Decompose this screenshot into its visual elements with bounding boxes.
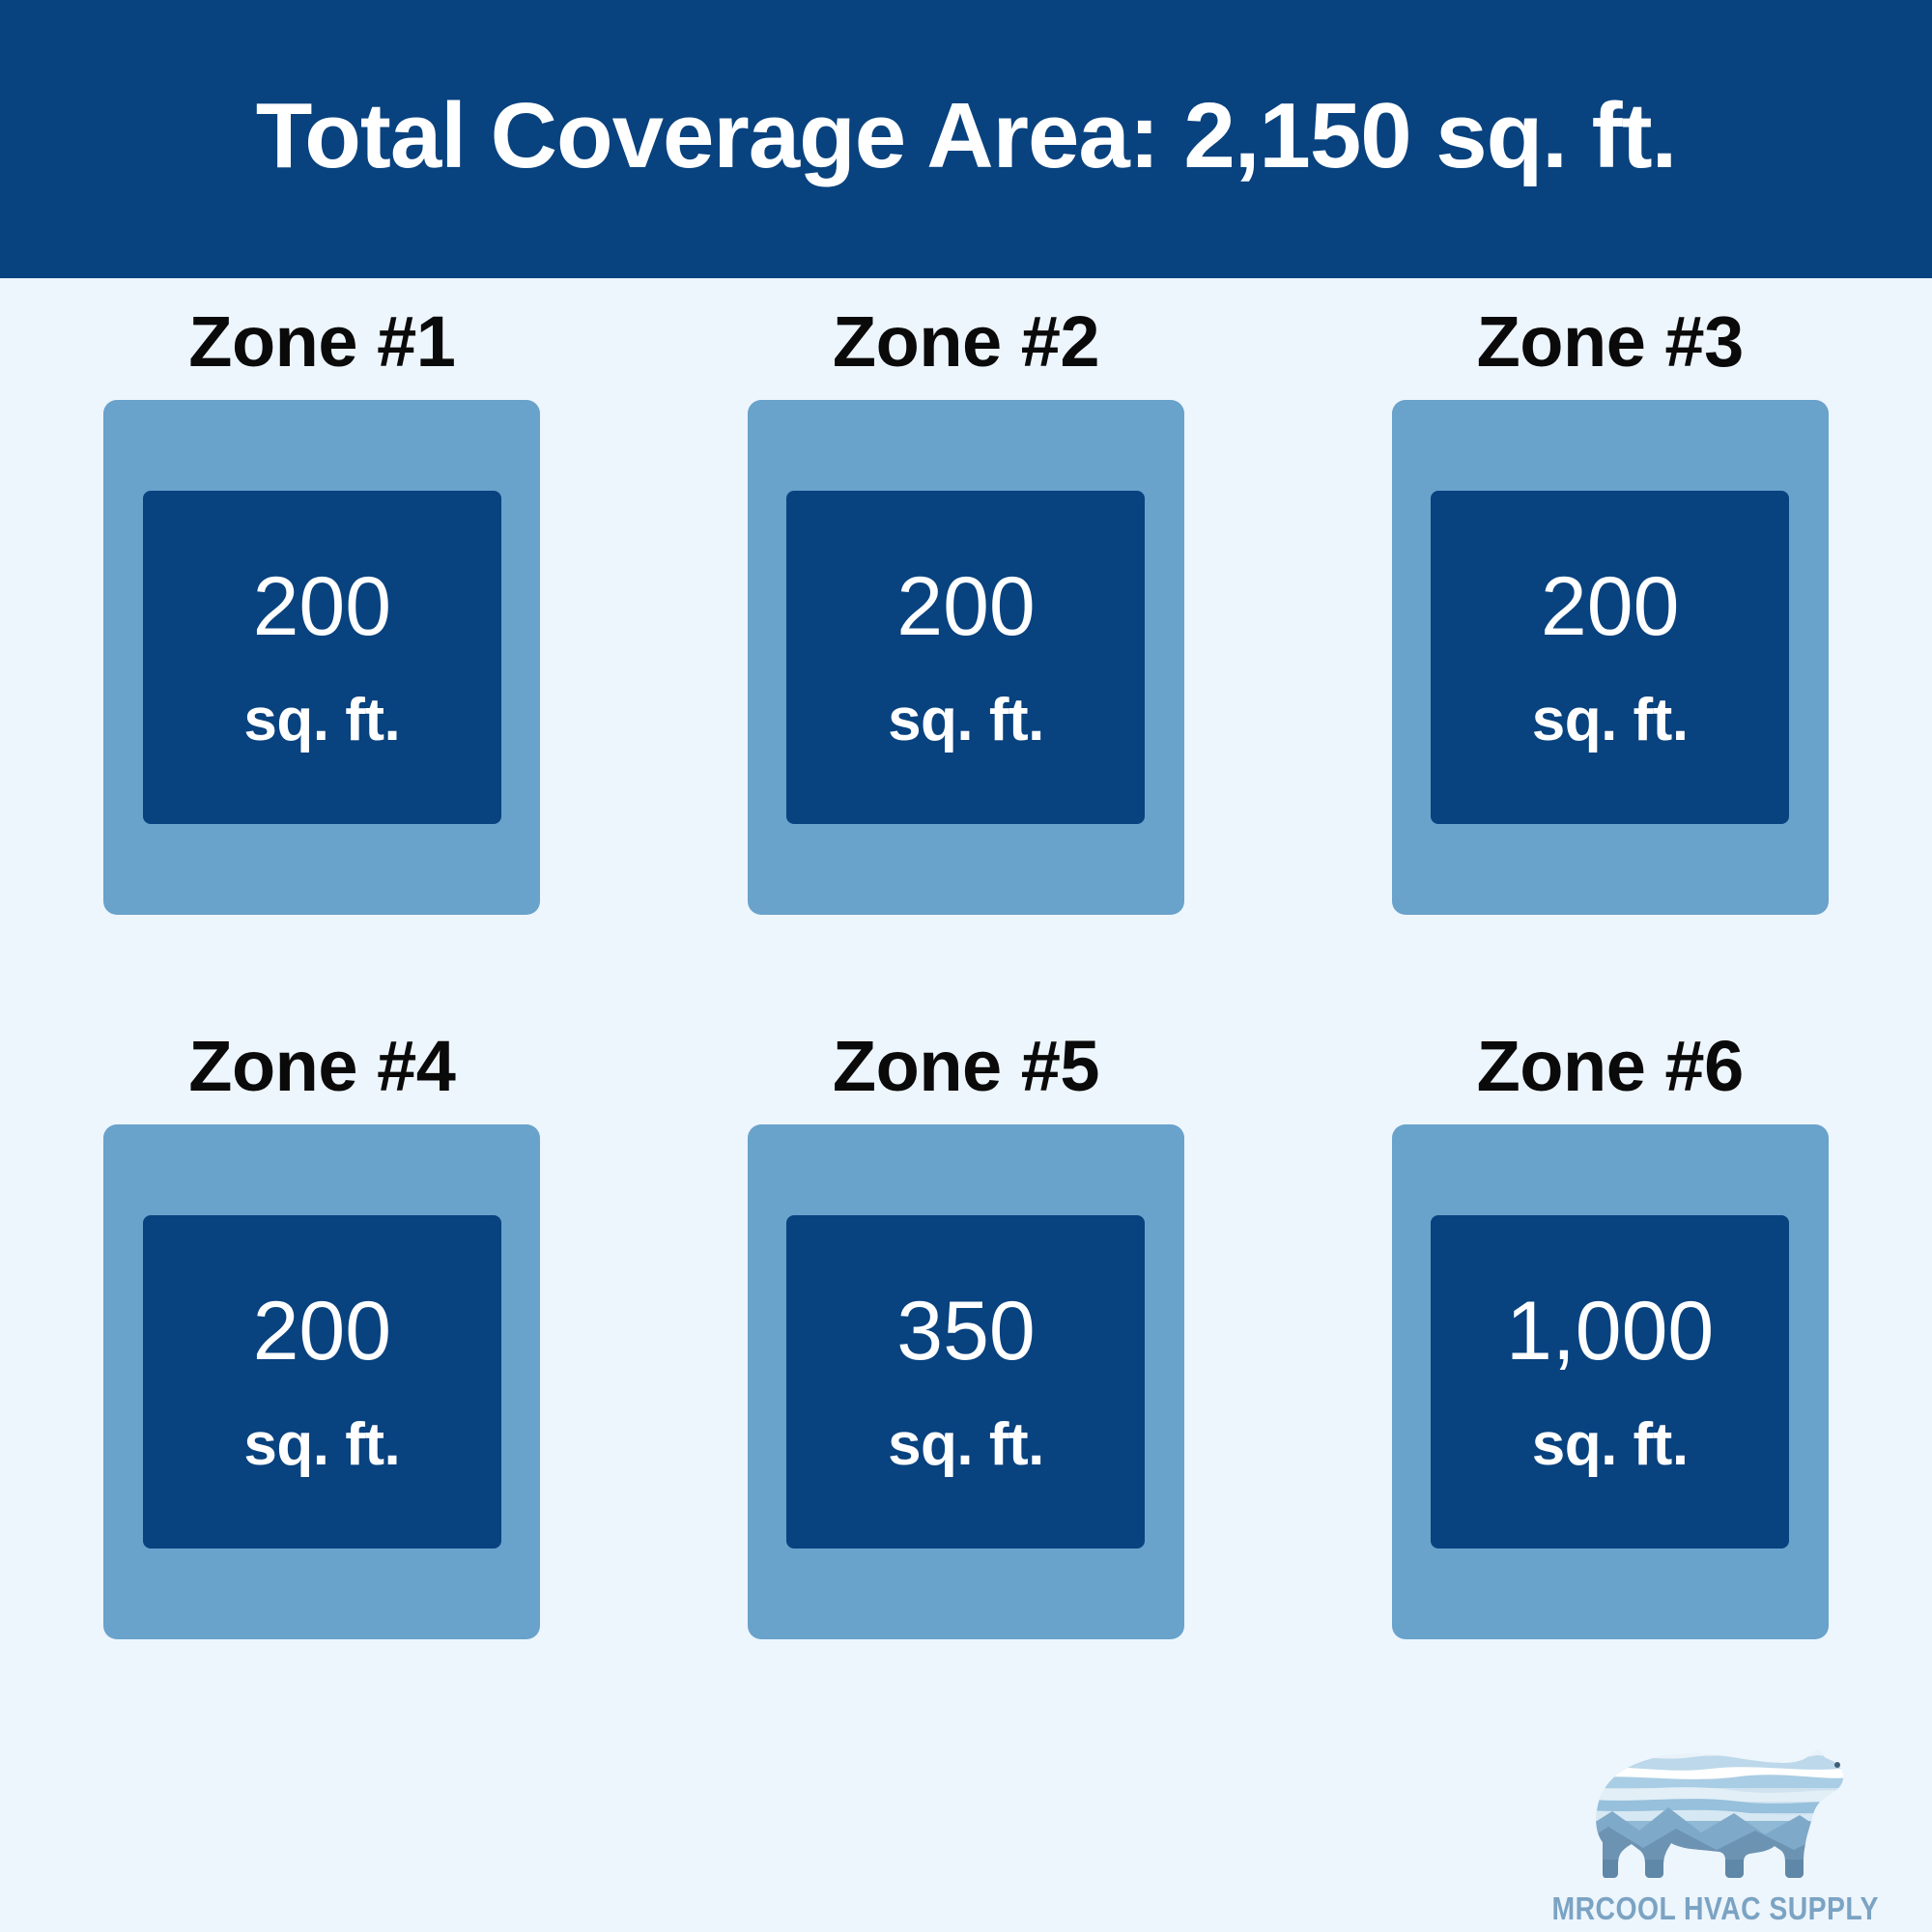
- infographic-page: Total Coverage Area: 2,150 sq. ft. Zone …: [0, 0, 1932, 1932]
- page-title: Total Coverage Area: 2,150 sq. ft.: [256, 90, 1677, 183]
- zone-label-3: Zone #3: [1477, 284, 1744, 400]
- zone-value-box-2: 200 sq. ft.: [786, 491, 1145, 824]
- zone-value-3: 200: [1541, 565, 1680, 648]
- zone-card-1[interactable]: 200 sq. ft.: [103, 400, 540, 915]
- zone-cell-6: Zone #6 1,000 sq. ft.: [1288, 1003, 1932, 1727]
- header-banner: Total Coverage Area: 2,150 sq. ft.: [0, 0, 1932, 278]
- zone-value-4: 200: [253, 1290, 392, 1373]
- polar-bear-icon: [1576, 1726, 1856, 1890]
- zone-cell-4: Zone #4 200 sq. ft.: [0, 1003, 644, 1727]
- zone-unit-4: sq. ft.: [243, 1415, 400, 1475]
- zone-unit-2: sq. ft.: [888, 691, 1044, 751]
- zone-card-3[interactable]: 200 sq. ft.: [1392, 400, 1829, 915]
- zone-value-1: 200: [253, 565, 392, 648]
- zone-card-4[interactable]: 200 sq. ft.: [103, 1124, 540, 1639]
- brand-name: MRCOOL HVAC SUPPLY: [1552, 1892, 1879, 1924]
- zone-label-1: Zone #1: [188, 284, 455, 400]
- zone-label-2: Zone #2: [833, 284, 1099, 400]
- zone-value-box-6: 1,000 sq. ft.: [1431, 1215, 1789, 1548]
- zone-value-box-5: 350 sq. ft.: [786, 1215, 1145, 1548]
- zone-unit-6: sq. ft.: [1532, 1415, 1689, 1475]
- brand-logo: MRCOOL HVAC SUPPLY: [1522, 1688, 1909, 1924]
- zone-cell-2: Zone #2 200 sq. ft.: [644, 278, 1289, 1003]
- zone-value-6: 1,000: [1506, 1290, 1714, 1373]
- zone-unit-3: sq. ft.: [1532, 691, 1689, 751]
- zone-card-6[interactable]: 1,000 sq. ft.: [1392, 1124, 1829, 1639]
- zone-card-5[interactable]: 350 sq. ft.: [748, 1124, 1184, 1639]
- zone-card-2[interactable]: 200 sq. ft.: [748, 400, 1184, 915]
- zone-grid: Zone #1 200 sq. ft. Zone #2 200 sq. ft. …: [0, 278, 1932, 1727]
- zone-label-6: Zone #6: [1477, 1009, 1744, 1124]
- zone-cell-3: Zone #3 200 sq. ft.: [1288, 278, 1932, 1003]
- zone-value-box-3: 200 sq. ft.: [1431, 491, 1789, 824]
- zone-unit-1: sq. ft.: [243, 691, 400, 751]
- zone-unit-5: sq. ft.: [888, 1415, 1044, 1475]
- zone-cell-5: Zone #5 350 sq. ft.: [644, 1003, 1289, 1727]
- zone-value-box-4: 200 sq. ft.: [143, 1215, 501, 1548]
- zone-value-5: 350: [896, 1290, 1036, 1373]
- zone-cell-1: Zone #1 200 sq. ft.: [0, 278, 644, 1003]
- zone-label-4: Zone #4: [188, 1009, 455, 1124]
- zone-value-box-1: 200 sq. ft.: [143, 491, 501, 824]
- zone-value-2: 200: [896, 565, 1036, 648]
- zone-label-5: Zone #5: [833, 1009, 1099, 1124]
